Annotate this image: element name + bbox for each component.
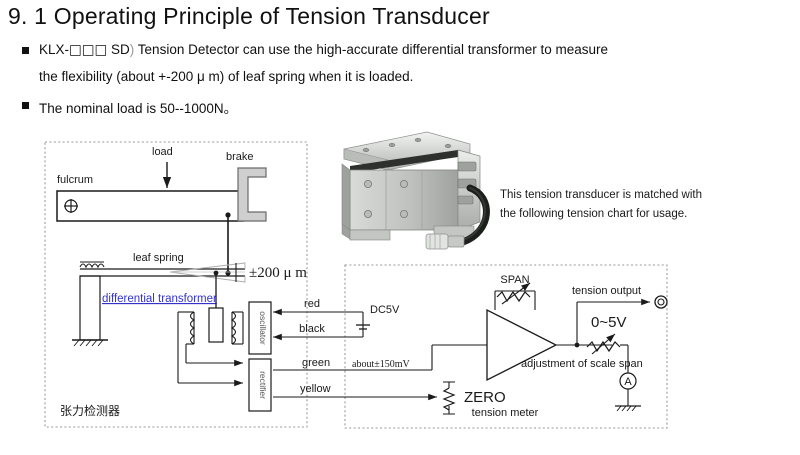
- bullet-1-rest: Tension Detector can use the high-accura…: [134, 42, 608, 57]
- model-prefix: KLX-: [39, 42, 69, 57]
- lvdt-coil-right: [232, 312, 236, 344]
- bullet-1-text: KLX-□□□ SD) Tension Detector can use the…: [39, 42, 608, 58]
- tension-transducer-schematic: fulcrum load brake leaf spring: [0, 120, 800, 455]
- bullet-marker-icon: [22, 102, 29, 109]
- label-scale-span: adjustment of scale span: [521, 358, 643, 370]
- rectifier-block: rectifier: [249, 359, 271, 411]
- output-terminal: [655, 296, 667, 308]
- label-signal-level: about±150mV: [352, 359, 410, 370]
- lvdt-core: [209, 308, 223, 342]
- rod-joint-bottom: [225, 270, 230, 275]
- bullet-item-2: The nominal load is 50--1000N。: [22, 97, 237, 117]
- page-title: 9. 1 Operating Principle of Tension Tran…: [8, 3, 490, 30]
- spring-support-column: [72, 276, 108, 346]
- label-leaf-spring: leaf spring: [133, 252, 184, 264]
- rod-joint-top: [225, 212, 230, 217]
- label-deflection: ±200 μ m: [249, 265, 307, 281]
- scale-span-adjust-arrow: [592, 334, 615, 354]
- model-suffix: SD: [107, 42, 130, 57]
- label-differential-transformer: differential transformer: [102, 293, 217, 305]
- lever-arm: [57, 191, 243, 221]
- bullet-1-line2-text: the flexibility (about +-200 μ m) of lea…: [39, 69, 413, 84]
- label-wire-yellow: yellow: [300, 383, 331, 395]
- label-rectifier: rectifier: [258, 371, 268, 399]
- bullet-item-1: KLX-□□□ SD) Tension Detector can use the…: [22, 42, 608, 58]
- label-brake: brake: [226, 151, 254, 163]
- label-fulcrum: fulcrum: [57, 174, 93, 186]
- brake-bracket: [238, 168, 266, 221]
- model-placeholder-boxes: □□□: [69, 42, 107, 58]
- bullet-marker-icon: [22, 47, 29, 54]
- scale-span-trimmer: [587, 334, 620, 354]
- bullet-item-1-line2: the flexibility (about +-200 μ m) of lea…: [39, 69, 413, 84]
- label-tension-meter: tension meter: [472, 407, 539, 419]
- label-dc5v: DC5V: [370, 304, 400, 316]
- bullet-2-text: The nominal load is 50--1000N。: [39, 97, 237, 117]
- label-zero: ZERO: [464, 389, 506, 406]
- slide-root: 9. 1 Operating Principle of Tension Tran…: [0, 0, 800, 455]
- svg-text:A: A: [624, 376, 632, 388]
- label-oscillator: oscillator: [258, 311, 268, 345]
- ground-symbol: [615, 406, 641, 411]
- label-output-range: 0~5V: [591, 314, 626, 331]
- label-span: SPAN: [500, 274, 529, 286]
- label-wire-red: red: [304, 298, 320, 310]
- label-wire-green: green: [302, 357, 330, 369]
- label-load: load: [152, 146, 173, 158]
- span-trimmer: [495, 283, 535, 310]
- label-detector-cn: 张力检测器: [60, 403, 120, 418]
- lvdt-coil-left: [191, 312, 195, 344]
- zero-potentiometer: [443, 382, 455, 414]
- label-tension-output: tension output: [572, 285, 641, 297]
- oscillator-block: oscillator: [249, 302, 271, 354]
- ammeter-symbol: A: [620, 373, 636, 389]
- leaf-spring: [80, 262, 245, 282]
- label-wire-black: black: [299, 323, 325, 335]
